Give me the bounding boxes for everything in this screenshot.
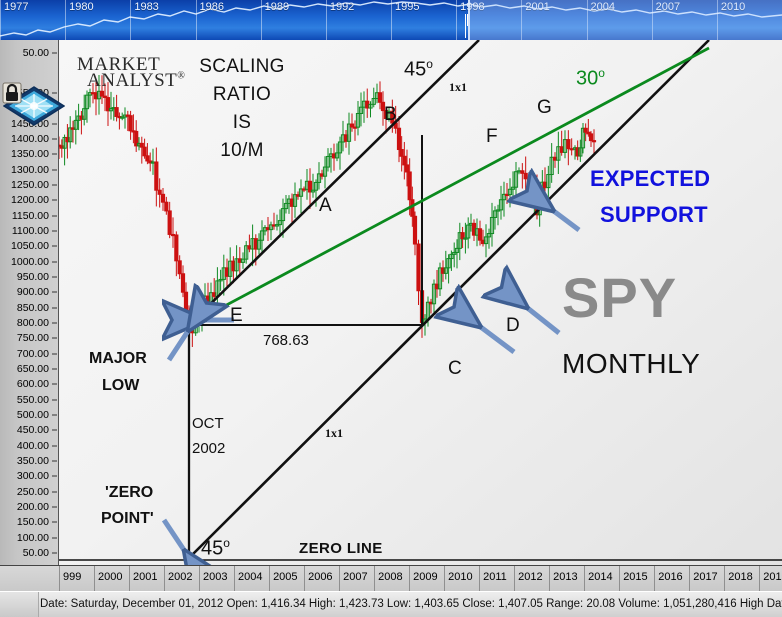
price-tick (52, 307, 57, 308)
date-tick (129, 566, 130, 592)
date-tick-label: 2000 (98, 571, 122, 583)
scaling-ratio-line-3: IS (177, 112, 307, 134)
arrow-to-expected-support (551, 209, 579, 230)
price-tick-label: 200.00 (17, 501, 49, 513)
date-tick (479, 566, 480, 592)
price-tick (52, 476, 57, 477)
swing-point-b-label: B (384, 104, 397, 126)
plot-canvas[interactable]: MARKET ANALYST® SCALING RATIO IS 10/M 45… (59, 40, 782, 565)
price-tick-label: 650.00 (17, 363, 49, 375)
navigator-view-window[interactable] (468, 0, 782, 40)
angle-45-top-label: 45o (404, 57, 433, 82)
arrow-to-zero-point (164, 520, 186, 553)
price-tick-label: 350.00 (17, 455, 49, 467)
navigator-tick (196, 0, 197, 40)
price-tick-label: 250.00 (17, 486, 49, 498)
timeframe-label: MONTHLY (562, 348, 700, 380)
angle-45-bottom-label: 45o (201, 536, 230, 561)
support-value-label: 768.63 (263, 332, 309, 349)
date-tick (234, 566, 235, 592)
date-tick-label: 2018 (728, 571, 752, 583)
swing-point-a-label: A (319, 195, 332, 217)
price-tick (52, 323, 57, 324)
price-tick (52, 277, 57, 278)
date-tick (654, 566, 655, 592)
date-axis[interactable]: 9992000200120022003200420052006200720082… (0, 565, 782, 593)
scaling-ratio-line-1: SCALING (177, 56, 307, 78)
price-tick-label: 1200.00 (11, 194, 49, 206)
date-tick (409, 566, 410, 592)
scaling-ratio-line-4: 10/M (177, 140, 307, 162)
price-tick (52, 169, 57, 170)
date-tick-label: 2014 (588, 571, 612, 583)
navigator-tick-label: 1995 (395, 1, 419, 13)
date-tick-label: 2003 (203, 571, 227, 583)
date-tick (584, 566, 585, 592)
date-tick-label: 2004 (238, 571, 262, 583)
price-tick-label: 550.00 (17, 394, 49, 406)
date-tick-label: 2019 (763, 571, 782, 583)
price-tick (52, 522, 57, 523)
price-tick-label: 150.00 (17, 516, 49, 528)
navigator-tick (0, 0, 1, 40)
price-tick (52, 200, 57, 201)
price-tick-label: 1300.00 (11, 164, 49, 176)
date-tick (444, 566, 445, 592)
price-tick-label: 850.00 (17, 302, 49, 314)
status-bar: Date: Saturday, December 01, 2012 Open: … (0, 591, 782, 617)
price-tick (52, 261, 57, 262)
status-bar-text: Date: Saturday, December 01, 2012 Open: … (40, 595, 782, 614)
price-tick (52, 507, 57, 508)
swing-point-f-label: F (486, 126, 498, 148)
price-tick-label: 1100.00 (12, 225, 49, 237)
price-tick (52, 415, 57, 416)
price-tick-label: 50.00 (23, 47, 49, 59)
navigator-left-handle[interactable] (465, 14, 470, 26)
date-tick (304, 566, 305, 592)
price-tick-label: 300.00 (17, 470, 49, 482)
date-tick-label: 2010 (448, 571, 472, 583)
price-tick-label: 50.00 (23, 547, 49, 559)
date-tick-label: 2009 (413, 571, 437, 583)
navigator-tick-label: 1992 (330, 1, 354, 13)
navigator-tick-label: 1977 (4, 1, 28, 13)
date-tick (374, 566, 375, 592)
arrow-to-major-low (169, 328, 190, 360)
zero-point-line-2: POINT' (101, 510, 154, 528)
price-tick (52, 215, 57, 216)
gann-45-degree-upper-line (189, 40, 479, 325)
date-tick (199, 566, 200, 592)
price-tick (52, 369, 57, 370)
date-tick (339, 566, 340, 592)
price-tick-label: 1400.00 (11, 133, 49, 145)
navigator-tick-label: 1980 (69, 1, 93, 13)
price-tick-label: 750.00 (17, 332, 49, 344)
swing-point-e-label: E (230, 305, 243, 327)
price-tick (52, 445, 57, 446)
price-tick (52, 139, 57, 140)
ratio-1x1-top-label: 1x1 (449, 80, 467, 95)
date-tick (689, 566, 690, 592)
expected-support-line-1: EXPECTED (590, 166, 710, 192)
price-tick (52, 246, 57, 247)
date-tick (549, 566, 550, 592)
date-tick-label: 2008 (378, 571, 402, 583)
expected-support-line-2: SUPPORT (600, 202, 708, 228)
price-tick-label: 400.00 (17, 440, 49, 452)
price-tick-label: 1250.00 (11, 179, 49, 191)
navigator-tick (65, 0, 66, 40)
date-tick-label: 2005 (273, 571, 297, 583)
navigator-tick (261, 0, 262, 40)
navigator-tick (391, 0, 392, 40)
arrow-to-d (525, 306, 559, 333)
price-tick (52, 185, 57, 186)
price-tick (52, 384, 57, 385)
date-tick-label: 2006 (308, 571, 332, 583)
ratio-1x1-bottom-label: 1x1 (325, 426, 343, 441)
navigator-tick-label: 1983 (134, 1, 158, 13)
date-tick-label: 2017 (693, 571, 717, 583)
navigator-tick (326, 0, 327, 40)
price-tick-label: 950.00 (17, 271, 49, 283)
navigator-tick-label: 1986 (200, 1, 224, 13)
date-tick (759, 566, 760, 592)
date-tick-label: 2016 (658, 571, 682, 583)
date-tick-label: 2015 (623, 571, 647, 583)
date-tick-label: 2001 (133, 571, 157, 583)
date-tick (269, 566, 270, 592)
date-tick-label: 2002 (168, 571, 192, 583)
price-tick-label: 900.00 (17, 286, 49, 298)
price-tick (52, 491, 57, 492)
status-bar-left-pane (0, 592, 39, 617)
price-tick (52, 461, 57, 462)
date-tick-label: 2007 (343, 571, 367, 583)
logo-line-2: ANALYST® (87, 70, 185, 92)
price-tick (52, 292, 57, 293)
major-low-line-2: LOW (102, 377, 139, 395)
price-tick-label: 100.00 (17, 532, 49, 544)
price-tick (52, 338, 57, 339)
ticker-symbol-label: SPY (562, 265, 677, 330)
date-tick-label: 999 (63, 571, 81, 583)
major-low-line-1: MAJOR (89, 350, 147, 368)
date-tick-label: 2012 (518, 571, 542, 583)
date-tick (59, 566, 60, 592)
price-tick (52, 53, 57, 54)
price-tick-label: 1350.00 (11, 148, 49, 160)
navigator-tick (130, 0, 131, 40)
price-tick-label: 600.00 (17, 378, 49, 390)
price-tick-label: 1050.00 (11, 240, 49, 252)
swing-point-g-label: G (537, 97, 552, 119)
price-tick (52, 537, 57, 538)
price-tick (52, 231, 57, 232)
price-tick-label: 1000.00 (11, 256, 49, 268)
angle-30-label: 30o (576, 66, 605, 91)
swing-point-d-label: D (506, 315, 520, 337)
price-tick (52, 430, 57, 431)
price-tick (52, 154, 57, 155)
date-tick-label: 2013 (553, 571, 577, 583)
price-tick-label: 700.00 (17, 348, 49, 360)
scaling-ratio-line-2: RATIO (177, 84, 307, 106)
date-tick (164, 566, 165, 592)
navigator-tick-label: 1989 (265, 1, 289, 13)
navigator-tick (456, 0, 457, 40)
price-tick-label: 1150.00 (12, 210, 49, 222)
price-tick-label: 450.00 (17, 424, 49, 436)
price-tick (52, 399, 57, 400)
date-tick (619, 566, 620, 592)
lock-icon[interactable] (2, 82, 22, 104)
price-tick-label: 800.00 (17, 317, 49, 329)
price-tick (52, 553, 57, 554)
price-tick-label: 500.00 (17, 409, 49, 421)
swing-point-c-label: C (448, 358, 462, 380)
oct-label-line-1: OCT (192, 415, 224, 432)
date-tick (514, 566, 515, 592)
price-tick (52, 353, 57, 354)
zero-point-line-1: 'ZERO (105, 484, 153, 502)
chart-area: 50.001550.001500.001450.001400.001350.00… (0, 40, 782, 565)
date-tick-label: 2011 (483, 571, 507, 583)
oct-label-line-2: 2002 (192, 440, 225, 457)
market-analyst-window: 1977198019831986198919921995199820012004… (0, 0, 782, 616)
date-tick (94, 566, 95, 592)
date-range-navigator[interactable]: 1977198019831986198919921995199820012004… (0, 0, 782, 40)
date-tick (724, 566, 725, 592)
zero-line-label: ZERO LINE (299, 540, 383, 557)
